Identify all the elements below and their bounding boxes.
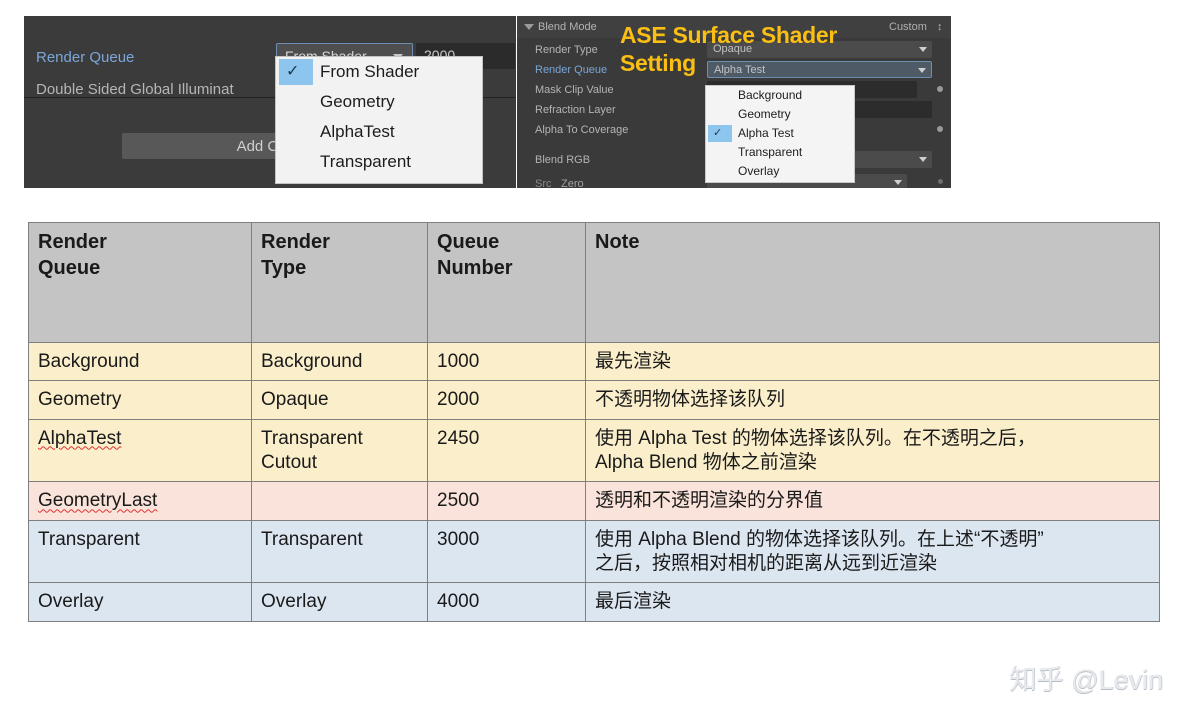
render-queue-table: Render Queue Render Type Queue Number No… <box>28 222 1160 622</box>
note-line: 透明和不透明渲染的分界值 <box>595 489 1150 513</box>
cell-queue-number: 2450 <box>428 419 586 482</box>
foldout-triangle-icon[interactable] <box>524 24 534 30</box>
misspelled-word: AlphaTest <box>38 428 121 449</box>
note-line: 使用 Alpha Test 的物体选择该队列。在不透明之后， <box>595 427 1150 451</box>
menu-item-label: Geometry <box>738 107 791 121</box>
blend-mode-label: Blend Mode <box>538 21 597 33</box>
menu-item-from-shader[interactable]: ✓ From Shader <box>276 57 482 87</box>
menu-item-label: From Shader <box>320 62 419 81</box>
cell-queue-number: 3000 <box>428 520 586 583</box>
cell-render-queue: Overlay <box>29 583 252 621</box>
check-icon: ✓ <box>713 124 722 143</box>
menu-item-label: Alpha Test <box>738 126 794 140</box>
table-row: AlphaTest Transparent Cutout 2450 使用 Alp… <box>29 419 1160 482</box>
header-line: Queue <box>437 230 576 256</box>
cell-render-queue: Geometry <box>29 381 252 419</box>
column-header-render-queue: Render Queue <box>29 223 252 343</box>
cell-note: 最先渲染 <box>586 343 1160 381</box>
chevron-down-icon <box>919 157 927 162</box>
cell-render-type <box>252 482 428 520</box>
column-header-queue-number: Queue Number <box>428 223 586 343</box>
table-row: Transparent Transparent 3000 使用 Alpha Bl… <box>29 520 1160 583</box>
column-header-note: Note <box>586 223 1160 343</box>
watermark: 知乎 @Levin <box>1010 658 1163 697</box>
header-line: Queue <box>38 256 242 282</box>
table-body: Background Background 1000 最先渲染 Geometry… <box>29 343 1160 622</box>
property-dot-icon[interactable] <box>937 86 943 92</box>
menu-item-geometry[interactable]: Geometry <box>276 87 482 117</box>
ase-render-queue-value: Alpha Test <box>714 64 765 76</box>
annotation-title-line2: Setting <box>620 50 696 77</box>
cell-render-queue: GeometryLast <box>29 482 252 520</box>
src-label: Src <box>535 178 552 188</box>
render-queue-label: Render Queue <box>36 49 134 66</box>
chevron-down-icon <box>894 180 902 185</box>
render-queue-popup-menu[interactable]: ✓ From Shader Geometry AlphaTest Transpa… <box>275 56 483 184</box>
cell-render-type: Transparent <box>252 520 428 583</box>
cell-render-type: Transparent Cutout <box>252 419 428 482</box>
note-line: 使用 Alpha Blend 的物体选择该队列。在上述“不透明” <box>595 528 1150 552</box>
cell-render-type: Overlay <box>252 583 428 621</box>
annotation-title-line1: ASE Surface Shader <box>620 22 837 49</box>
render-type-label: Render Type <box>535 44 598 56</box>
cell-queue-number: 1000 <box>428 343 586 381</box>
ase-menu-item-geometry[interactable]: Geometry <box>706 105 854 124</box>
table-row: Geometry Opaque 2000 不透明物体选择该队列 <box>29 381 1160 419</box>
ase-menu-item-background[interactable]: Background <box>706 86 854 105</box>
check-icon: ✓ <box>286 57 299 87</box>
cell-render-queue: AlphaTest <box>29 419 252 482</box>
table-row: Background Background 1000 最先渲染 <box>29 343 1160 381</box>
table-head: Render Queue Render Type Queue Number No… <box>29 223 1160 343</box>
note-line: Alpha Blend 物体之前渲染 <box>595 451 1150 475</box>
column-header-render-type: Render Type <box>252 223 428 343</box>
double-sided-gi-label: Double Sided Global Illuminat <box>36 81 234 98</box>
note-line: 最后渲染 <box>595 590 1150 614</box>
header-line: Number <box>437 256 576 282</box>
chevron-down-icon <box>919 47 927 52</box>
menu-item-label: Transparent <box>320 152 411 171</box>
menu-item-alphatest[interactable]: AlphaTest <box>276 117 482 147</box>
screenshot-strip: Render Queue Double Sided Global Illumin… <box>0 0 1185 212</box>
menu-item-label: Background <box>738 88 802 102</box>
misspelled-word: GeometryLast <box>38 490 157 511</box>
table-row: GeometryLast 2500 透明和不透明渲染的分界值 <box>29 482 1160 520</box>
mask-clip-value-label: Mask Clip Value <box>535 84 614 96</box>
menu-item-transparent[interactable]: Transparent <box>276 147 482 177</box>
cell-note: 不透明物体选择该队列 <box>586 381 1160 419</box>
ase-render-queue-dropdown[interactable]: Alpha Test <box>707 61 932 78</box>
note-line: 不透明物体选择该队列 <box>595 388 1150 412</box>
ase-render-queue-label: Render Queue <box>535 64 607 76</box>
updown-arrows-icon[interactable]: ↕ <box>937 21 943 33</box>
property-dot-icon[interactable] <box>938 179 943 184</box>
header-line: Render <box>38 230 242 256</box>
custom-selector-label[interactable]: Custom <box>889 21 927 33</box>
header-line: Type <box>261 256 418 282</box>
cell-render-queue: Transparent <box>29 520 252 583</box>
header-line: Render <box>261 230 418 256</box>
cell-note: 透明和不透明渲染的分界值 <box>586 482 1160 520</box>
property-dot-icon[interactable] <box>937 126 943 132</box>
table-row: Overlay Overlay 4000 最后渲染 <box>29 583 1160 621</box>
cell-queue-number: 4000 <box>428 583 586 621</box>
chevron-down-icon <box>918 68 926 73</box>
cell-note: 使用 Alpha Test 的物体选择该队列。在不透明之后， Alpha Ble… <box>586 419 1160 482</box>
blend-rgb-label: Blend RGB <box>535 154 590 166</box>
menu-item-label: AlphaTest <box>320 122 395 141</box>
cell-queue-number: 2500 <box>428 482 586 520</box>
cell-queue-number: 2000 <box>428 381 586 419</box>
ase-menu-item-overlay[interactable]: Overlay <box>706 162 854 181</box>
menu-item-label: Transparent <box>738 145 802 159</box>
ase-menu-item-alpha-test[interactable]: ✓ Alpha Test <box>706 124 854 143</box>
cell-render-type: Background <box>252 343 428 381</box>
src-value-label: Zero <box>561 178 584 188</box>
table-header-row: Render Queue Render Type Queue Number No… <box>29 223 1160 343</box>
ase-menu-item-transparent[interactable]: Transparent <box>706 143 854 162</box>
menu-item-label: Overlay <box>738 164 779 178</box>
header-line: Note <box>595 230 1150 256</box>
ase-render-queue-popup-menu[interactable]: Background Geometry ✓ Alpha Test Transpa… <box>705 85 855 183</box>
refraction-layer-label: Refraction Layer <box>535 104 616 116</box>
cell-note: 最后渲染 <box>586 583 1160 621</box>
note-line: 之后，按照相对相机的距离从远到近渲染 <box>595 552 1150 576</box>
menu-item-label: Geometry <box>320 92 395 111</box>
cell-render-queue: Background <box>29 343 252 381</box>
alpha-to-coverage-label: Alpha To Coverage <box>535 124 628 136</box>
cell-render-type: Opaque <box>252 381 428 419</box>
cell-note: 使用 Alpha Blend 的物体选择该队列。在上述“不透明” 之后，按照相对… <box>586 520 1160 583</box>
note-line: 最先渲染 <box>595 350 1150 374</box>
